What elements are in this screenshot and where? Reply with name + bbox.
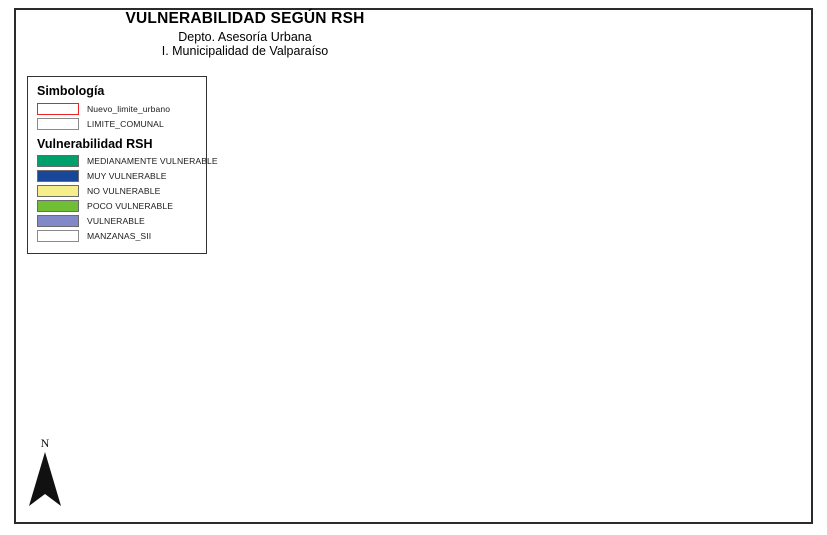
legend-item-limite-comunal: LIMITE_COMUNAL xyxy=(37,118,198,130)
legend-item-muy-vulnerable: MUY VULNERABLE xyxy=(37,170,198,182)
north-arrow: N xyxy=(22,436,68,514)
legend-label-muy-vulnerable: MUY VULNERABLE xyxy=(87,171,167,181)
map-subtitle-municipality: I. Municipalidad de Valparaíso xyxy=(105,44,385,58)
legend-item-medianamente-vulnerable: MEDIANAMENTE VULNERABLE xyxy=(37,155,198,167)
legend-label-no-vulnerable: NO VULNERABLE xyxy=(87,186,160,196)
legend-label-manzanas-sii: MANZANAS_SII xyxy=(87,231,151,241)
legend-item-manzanas-sii: MANZANAS_SII xyxy=(37,230,198,242)
legend-label-limite-comunal: LIMITE_COMUNAL xyxy=(87,119,164,129)
legend-heading-vulnerabilidad: Vulnerabilidad RSH xyxy=(37,137,198,151)
legend-label-nuevo-limite-urbano: Nuevo_limite_urbano xyxy=(87,104,170,114)
legend-swatch-manzanas-sii xyxy=(37,230,79,242)
legend-swatch-vulnerable xyxy=(37,215,79,227)
legend-swatch-muy-vulnerable xyxy=(37,170,79,182)
legend-item-vulnerable: VULNERABLE xyxy=(37,215,198,227)
map-subtitle-department: Depto. Asesoría Urbana xyxy=(105,30,385,44)
legend-item-poco-vulnerable: POCO VULNERABLE xyxy=(37,200,198,212)
legend-item-nuevo-limite-urbano: Nuevo_limite_urbano xyxy=(37,103,198,115)
legend-swatch-medianamente-vulnerable xyxy=(37,155,79,167)
legend-swatch-poco-vulnerable xyxy=(37,200,79,212)
legend-swatch-no-vulnerable xyxy=(37,185,79,197)
map-page: VULNERABILIDAD SEGÚN RSH Depto. Asesoría… xyxy=(0,0,827,535)
legend-label-medianamente-vulnerable: MEDIANAMENTE VULNERABLE xyxy=(87,156,218,166)
legend-swatch-limite-comunal xyxy=(37,118,79,130)
legend-item-no-vulnerable: NO VULNERABLE xyxy=(37,185,198,197)
map-title: VULNERABILIDAD SEGÚN RSH xyxy=(105,10,385,28)
legend-label-vulnerable: VULNERABLE xyxy=(87,216,145,226)
legend-panel: Simbología Nuevo_limite_urbano LIMITE_CO… xyxy=(27,76,207,254)
legend-heading: Simbología xyxy=(37,84,198,98)
north-arrow-label: N xyxy=(22,436,68,450)
north-arrow-icon xyxy=(22,450,68,512)
legend-label-poco-vulnerable: POCO VULNERABLE xyxy=(87,201,173,211)
legend-swatch-nuevo-limite-urbano xyxy=(37,103,79,115)
title-block: VULNERABILIDAD SEGÚN RSH Depto. Asesoría… xyxy=(105,10,385,58)
